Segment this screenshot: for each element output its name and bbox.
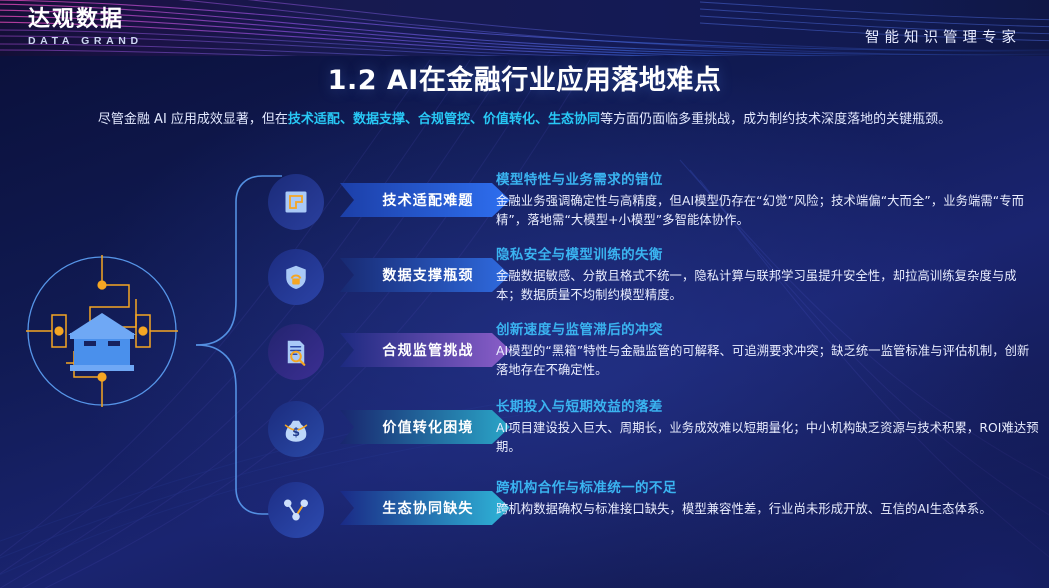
subtitle-tail: 等方面仍面临多重挑战，成为制约技术深度落地的关键瓶颈。: [600, 112, 951, 127]
bank-building-icon: [68, 313, 136, 371]
challenge-row: 数据支撑瓶颈隐私安全与模型训练的失衡金融数据敏感、分散且格式不统一，隐私计算与联…: [268, 245, 1038, 309]
subtitle-separator: 、: [405, 112, 418, 127]
header-tagline: 智能知识管理专家: [865, 26, 1021, 47]
challenge-ribbon[interactable]: 生态协同缺失: [340, 491, 510, 525]
challenge-ribbon[interactable]: 数据支撑瓶颈: [340, 258, 510, 292]
slide-canvas: 达观数据 DATA GRAND 智能知识管理专家 1.2 AI在金融行业应用落地…: [0, 0, 1049, 588]
challenge-ribbon-label: 技术适配难题: [376, 190, 473, 210]
challenge-row: 技术适配难题模型特性与业务需求的错位金融业务强调确定性与高精度，但AI模型仍存在…: [268, 170, 1038, 234]
money-bag-icon: $: [281, 414, 311, 444]
subtitle-keyword: 价值转化: [483, 112, 535, 127]
challenge-ribbon[interactable]: 合规监管挑战: [340, 333, 510, 367]
subtitle-separator: 、: [340, 112, 353, 127]
challenge-detail-body: 金融数据敏感、分散且格式不统一，隐私计算与联邦学习虽提升安全性，却拉高训练复杂度…: [496, 267, 1041, 304]
brand-logo-cn: 达观数据: [28, 8, 143, 32]
challenge-ribbon-label: 合规监管挑战: [376, 340, 473, 360]
challenge-icon-circle[interactable]: $: [268, 401, 324, 457]
shield-lock-icon: [281, 262, 311, 292]
challenge-detail-heading: 创新速度与监管滞后的冲突: [496, 318, 1041, 338]
subtitle-lead: 尽管金融 AI 应用成效显著，但在: [98, 112, 288, 127]
subtitle-keyword: 技术适配: [288, 112, 340, 127]
network-nodes-icon: [281, 495, 311, 525]
challenge-detail-body: 金融业务强调确定性与高精度，但AI模型仍存在“幻觉”风险；技术端偏“大而全”，业…: [496, 192, 1041, 229]
challenge-detail: 创新速度与监管滞后的冲突AI模型的“黑箱”特性与金融监管的可解释、可追溯要求冲突…: [496, 318, 1041, 379]
challenge-icon-circle[interactable]: [268, 249, 324, 305]
challenge-detail-heading: 跨机构合作与标准统一的不足: [496, 476, 1041, 496]
challenge-row: $ 价值转化困境长期投入与短期效益的落差AI项目建设投入巨大、周期长，业务成效难…: [268, 397, 1038, 461]
subtitle-keyword: 数据支撑: [353, 112, 405, 127]
svg-text:$: $: [292, 426, 300, 439]
challenge-ribbon[interactable]: 价值转化困境: [340, 410, 510, 444]
challenge-detail: 模型特性与业务需求的错位金融业务强调确定性与高精度，但AI模型仍存在“幻觉”风险…: [496, 168, 1041, 229]
subtitle-separator: 、: [470, 112, 483, 127]
subtitle-keywords: 技术适配、数据支撑、合规管控、价值转化、生态协同: [288, 112, 600, 127]
challenge-detail-body: 跨机构数据确权与标准接口缺失，模型兼容性差，行业尚未形成开放、互信的AI生态体系…: [496, 500, 1041, 519]
page-title: 1.2 AI在金融行业应用落地难点: [0, 58, 1049, 97]
brand-logo: 达观数据 DATA GRAND: [28, 8, 143, 47]
challenge-detail-heading: 长期投入与短期效益的落差: [496, 395, 1041, 415]
subtitle-keyword: 合规管控: [418, 112, 470, 127]
subtitle-keyword: 生态协同: [548, 112, 600, 127]
central-hub-graphic: [26, 255, 178, 407]
challenge-detail-body: AI模型的“黑箱”特性与金融监管的可解释、可追溯要求冲突；缺乏统一监管标准与评估…: [496, 342, 1041, 379]
challenge-row: 合规监管挑战创新速度与监管滞后的冲突AI模型的“黑箱”特性与金融监管的可解释、可…: [268, 320, 1038, 384]
puzzle-piece-icon: [281, 187, 311, 217]
page-subtitle: 尽管金融 AI 应用成效显著，但在技术适配、数据支撑、合规管控、价值转化、生态协…: [0, 111, 1049, 129]
challenge-detail: 隐私安全与模型训练的失衡金融数据敏感、分散且格式不统一，隐私计算与联邦学习虽提升…: [496, 243, 1041, 304]
subtitle-separator: 、: [535, 112, 548, 127]
challenge-ribbon-label: 生态协同缺失: [376, 498, 473, 518]
challenge-ribbon-label: 价值转化困境: [376, 417, 473, 437]
challenge-detail: 跨机构合作与标准统一的不足跨机构数据确权与标准接口缺失，模型兼容性差，行业尚未形…: [496, 476, 1041, 519]
challenge-icon-circle[interactable]: [268, 174, 324, 230]
challenge-detail-body: AI项目建设投入巨大、周期长，业务成效难以短期量化；中小机构缺乏资源与技术积累，…: [496, 419, 1041, 456]
challenge-rows: 技术适配难题模型特性与业务需求的错位金融业务强调确定性与高精度，但AI模型仍存在…: [268, 160, 1038, 560]
challenge-row: 生态协同缺失跨机构合作与标准统一的不足跨机构数据确权与标准接口缺失，模型兼容性差…: [268, 478, 1038, 542]
challenge-detail-heading: 模型特性与业务需求的错位: [496, 168, 1041, 188]
challenge-detail: 长期投入与短期效益的落差AI项目建设投入巨大、周期长，业务成效难以短期量化；中小…: [496, 395, 1041, 456]
brand-logo-en: DATA GRAND: [28, 35, 143, 47]
document-search-icon: [281, 337, 311, 367]
challenge-ribbon-label: 数据支撑瓶颈: [376, 265, 473, 285]
challenge-detail-heading: 隐私安全与模型训练的失衡: [496, 243, 1041, 263]
challenge-ribbon[interactable]: 技术适配难题: [340, 183, 510, 217]
challenge-icon-circle[interactable]: [268, 324, 324, 380]
challenge-icon-circle[interactable]: [268, 482, 324, 538]
